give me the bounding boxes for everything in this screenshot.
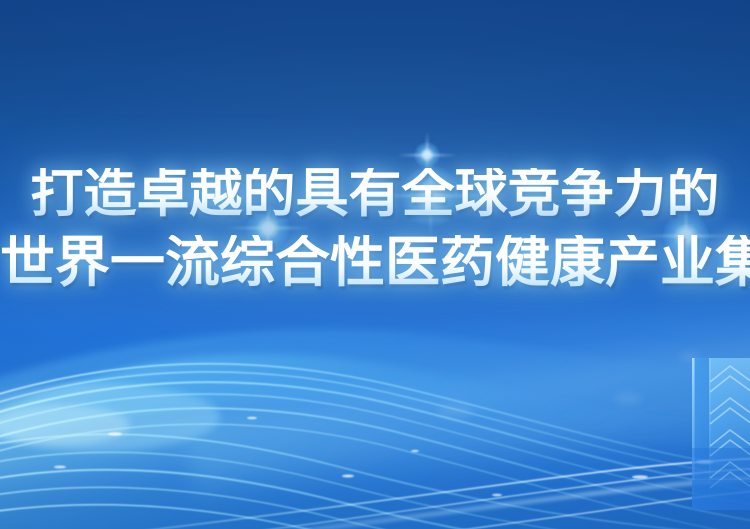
wave-decoration (0, 299, 750, 529)
lens-flare-upper-icon (414, 142, 440, 168)
diagonal-light-beam-icon (0, 267, 750, 523)
headline-block: 打造卓越的具有全球竞争力的 世界一流综合性医药健康产业集团 (0, 168, 750, 290)
lens-flare-right-icon (663, 213, 709, 259)
headline-line-2: 世界一流综合性医药健康产业集团 (0, 235, 750, 290)
slogan-banner: 打造卓越的具有全球竞争力的 世界一流综合性医药健康产业集团 (0, 0, 750, 529)
background-vignette (0, 0, 750, 529)
headline-line-1: 打造卓越的具有全球竞争力的 (0, 168, 750, 221)
lens-flare-center-icon (401, 166, 461, 226)
skyscraper-icon (680, 352, 750, 517)
lens-flare-left-icon (246, 206, 290, 250)
diagonal-light-beam-secondary-icon (185, 345, 750, 509)
film-grain-overlay (0, 0, 750, 529)
